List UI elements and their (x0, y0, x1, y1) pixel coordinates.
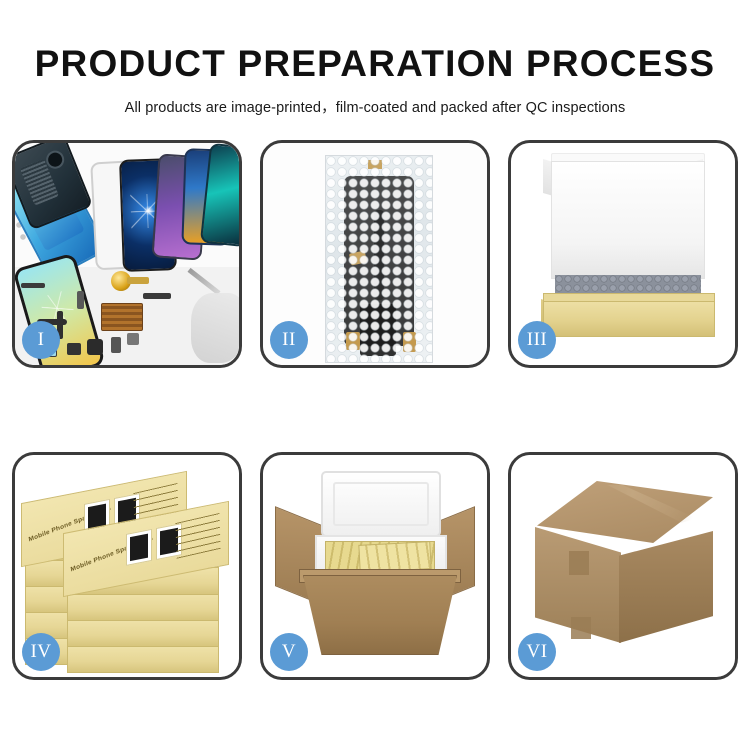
box-lid-white (551, 161, 705, 279)
process-grid: I II (12, 140, 738, 680)
box-spec-lines (175, 513, 220, 559)
stacked-box (67, 593, 219, 621)
step-badge-5: V (270, 633, 308, 671)
page-root: PRODUCT PREPARATION PROCESS All products… (0, 0, 750, 750)
part-bar-icon (21, 283, 45, 288)
step-badge-4: IV (22, 633, 60, 671)
stacked-box (67, 645, 219, 673)
process-step-6[interactable]: VI (508, 452, 738, 680)
part-connector-icon (77, 291, 84, 309)
small-part-3-icon (87, 339, 103, 355)
small-part-4-icon (111, 337, 121, 353)
process-step-2[interactable]: II (260, 140, 490, 368)
flex-cable-2-icon (143, 293, 171, 299)
hand-icon (191, 293, 239, 363)
step-badge-1: I (22, 321, 60, 359)
carton-right-face (619, 531, 713, 643)
process-step-5[interactable]: V (260, 452, 490, 680)
bubble-texture (326, 156, 432, 362)
process-step-4[interactable]: Mobile Phone Spare Parts Mobile Phone Sp… (12, 452, 242, 680)
carton-front-panel (303, 575, 457, 655)
process-step-3[interactable]: III (508, 140, 738, 368)
page-subtitle: All products are image-printed，film-coat… (0, 84, 750, 117)
chip-board-icon (101, 303, 143, 331)
process-step-1[interactable]: I (12, 140, 242, 368)
step-badge-6: VI (518, 633, 556, 671)
step-badge-3: III (518, 321, 556, 359)
foam-box-lid (321, 471, 441, 537)
box-front-yellow (543, 301, 715, 337)
page-title: PRODUCT PREPARATION PROCESS (0, 0, 750, 84)
box-window-1 (126, 529, 152, 566)
carton-seal-bottom (571, 617, 591, 639)
small-part-2-icon (67, 343, 81, 355)
step-badge-2: II (270, 321, 308, 359)
small-part-5-icon (127, 333, 139, 345)
gold-flex-icon (127, 277, 149, 284)
carton-seal-top (569, 551, 589, 575)
bubble-wrap-bag (325, 155, 433, 363)
stacked-box (67, 619, 219, 647)
header: PRODUCT PREPARATION PROCESS All products… (0, 0, 750, 117)
